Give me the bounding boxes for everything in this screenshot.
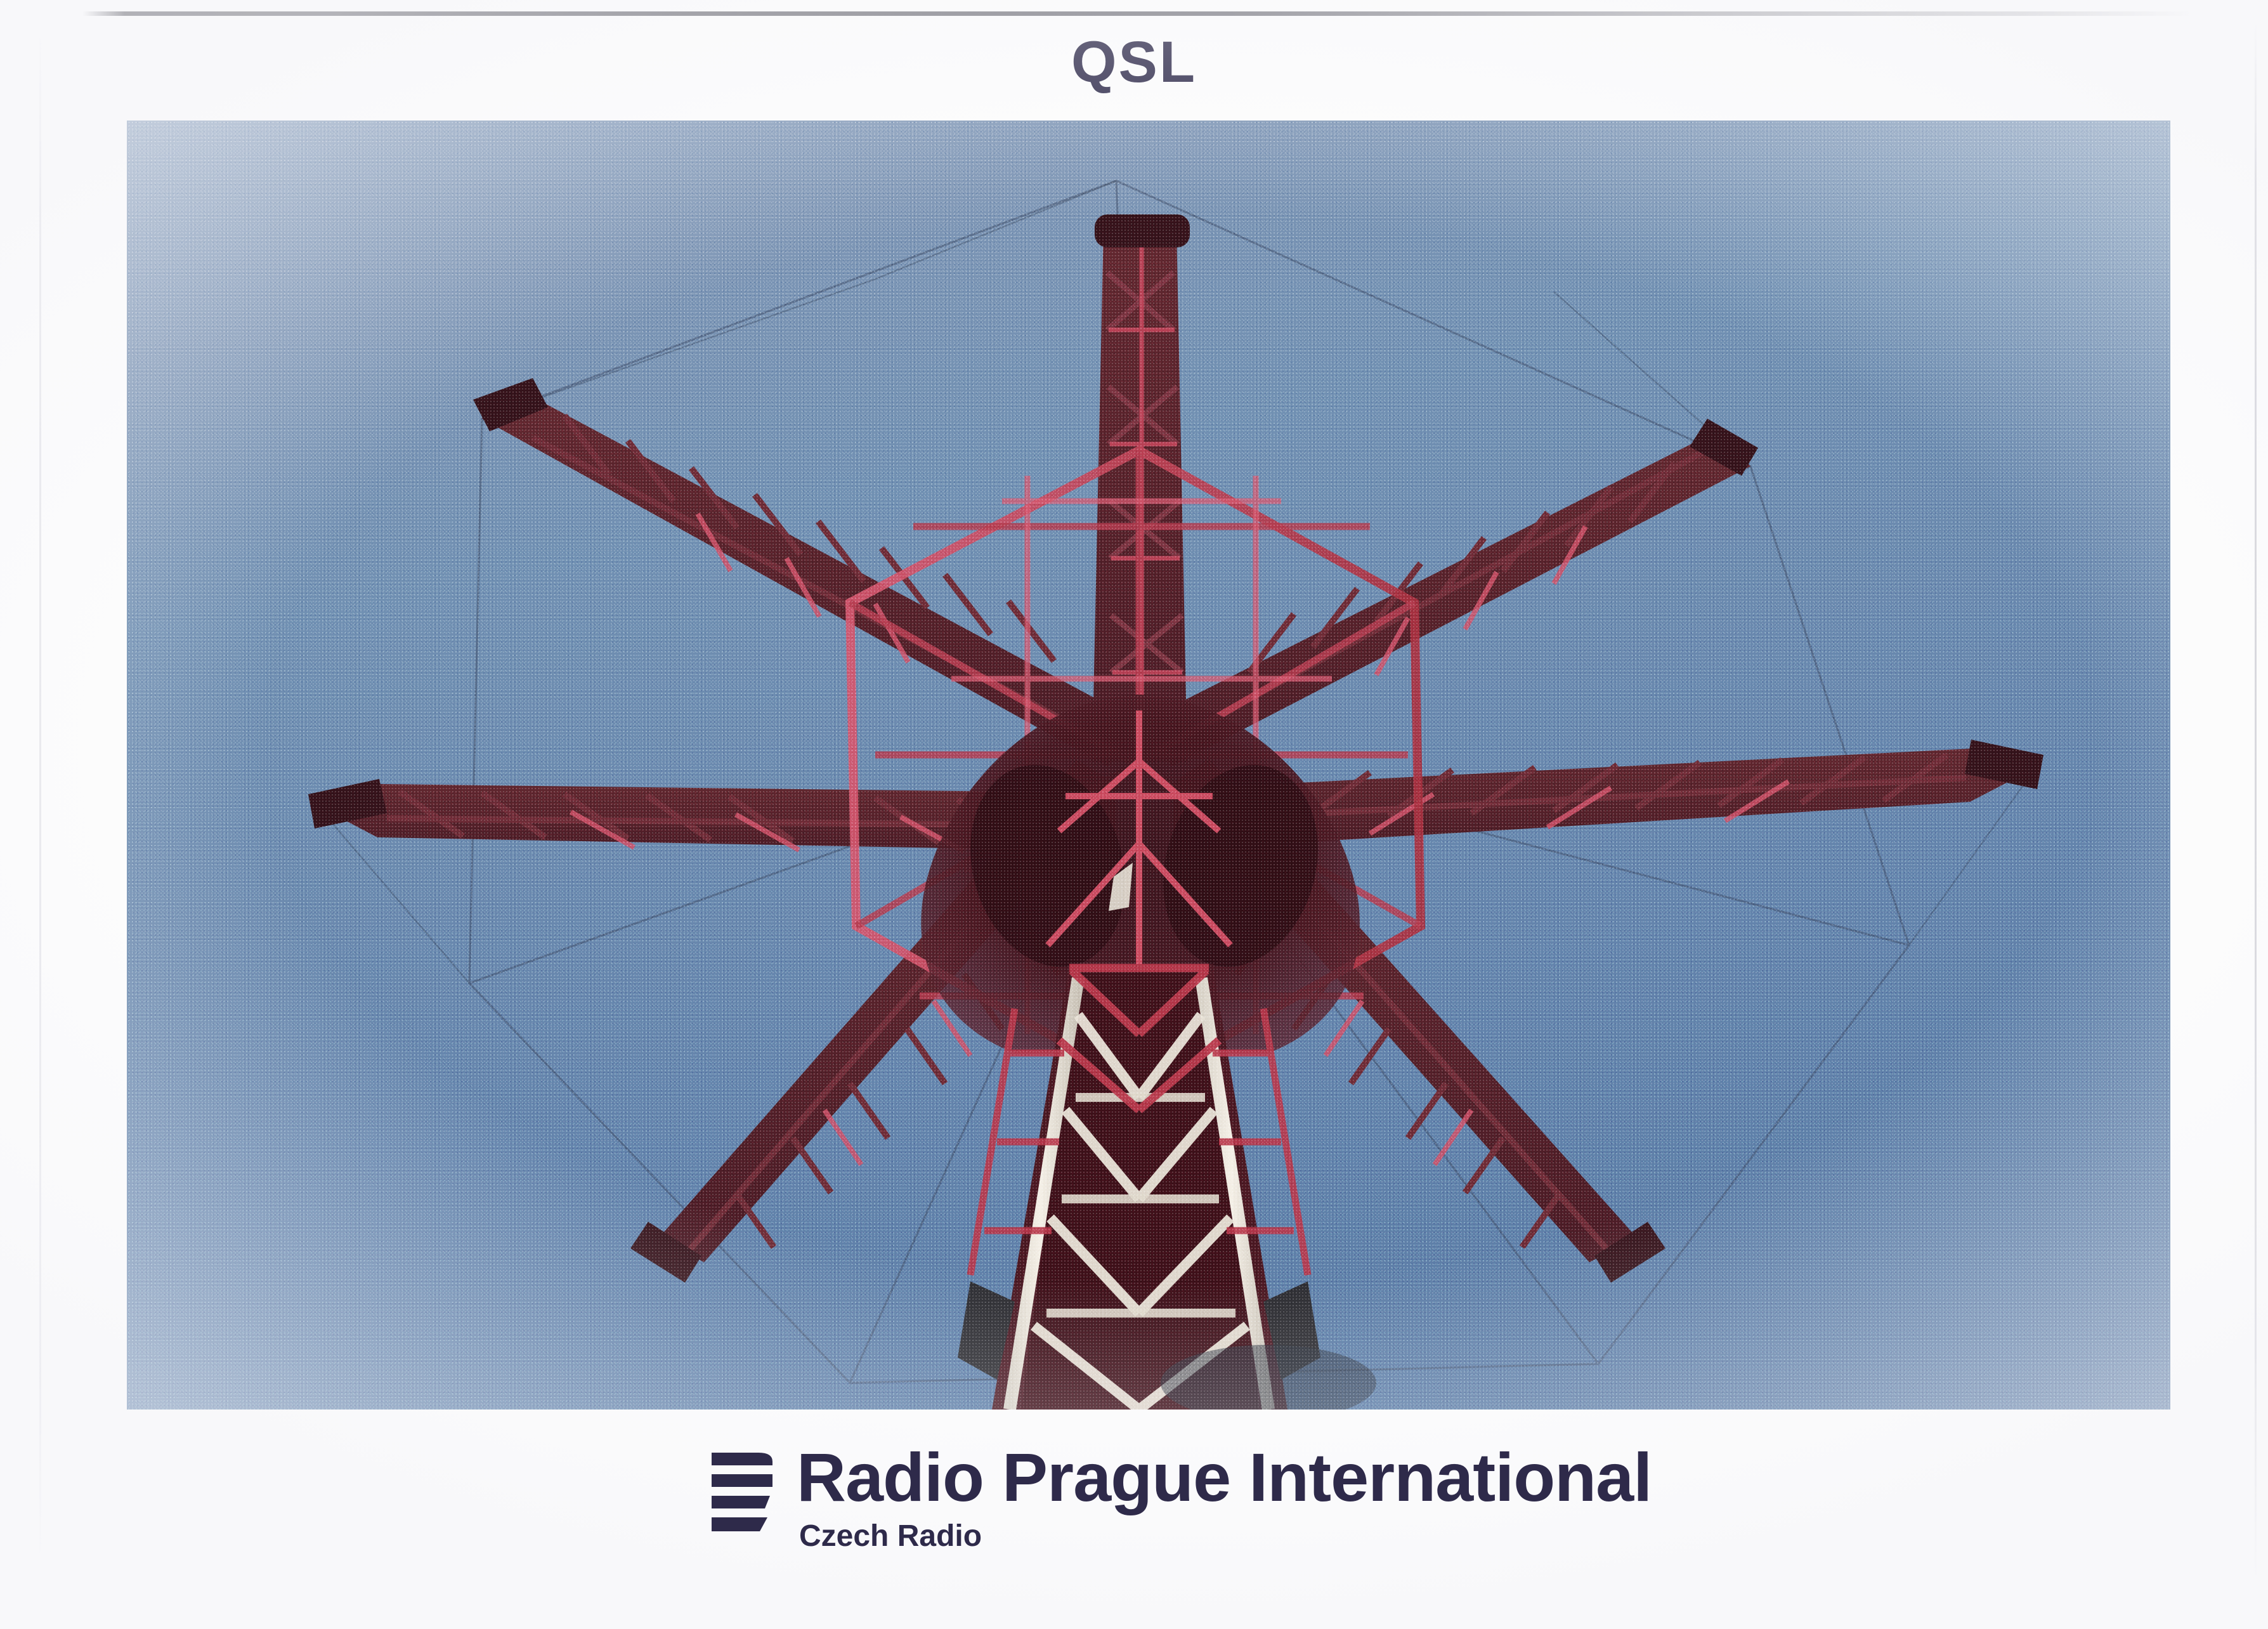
scan-edge-left [39, 25, 41, 1567]
scan-edge-top [82, 11, 2194, 16]
scan-edge-right [2255, 19, 2257, 1586]
radio-tower-illustration [127, 121, 2170, 1410]
brand-sub-name: Czech Radio [799, 1521, 1652, 1552]
wordmark-block: Radio Prague International Czech Radio [797, 1443, 1652, 1552]
brand-name: Radio Prague International [797, 1443, 1652, 1512]
qsl-card: QSL [0, 0, 2268, 1629]
tower-photograph [127, 121, 2170, 1410]
brand-footer: Radio Prague International Czech Radio [709, 1443, 1652, 1552]
czech-radio-bars-icon [709, 1451, 778, 1535]
page-title: QSL [0, 33, 2268, 91]
